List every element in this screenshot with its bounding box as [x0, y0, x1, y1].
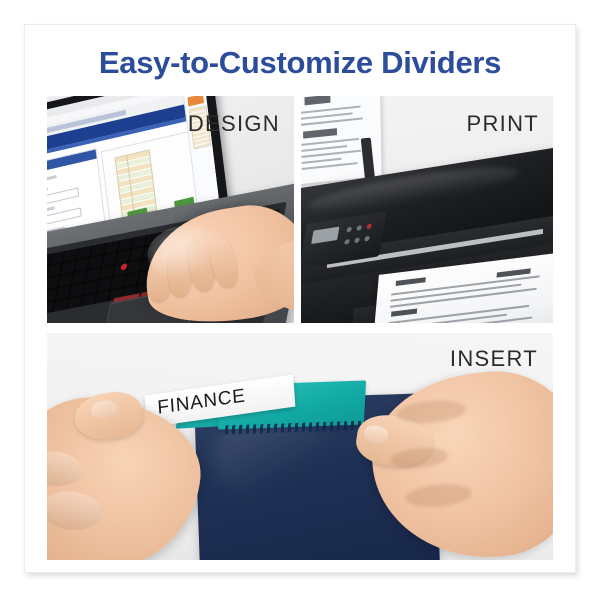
panel-insert: FINANCE INSERT	[47, 333, 553, 560]
panel-design: DESIGN	[47, 96, 294, 323]
printer-lcd-icon	[311, 227, 339, 244]
panel-print: PRINT	[301, 96, 553, 323]
panel-label-insert: INSERT	[450, 346, 538, 372]
page-title: Easy-to-Customize Dividers	[0, 45, 600, 81]
panel-label-design: DESIGN	[188, 111, 280, 137]
panel-label-print: PRINT	[467, 111, 540, 137]
divider-tab-strip	[115, 149, 158, 218]
product-feature-image: Easy-to-Customize Dividers	[0, 0, 600, 600]
